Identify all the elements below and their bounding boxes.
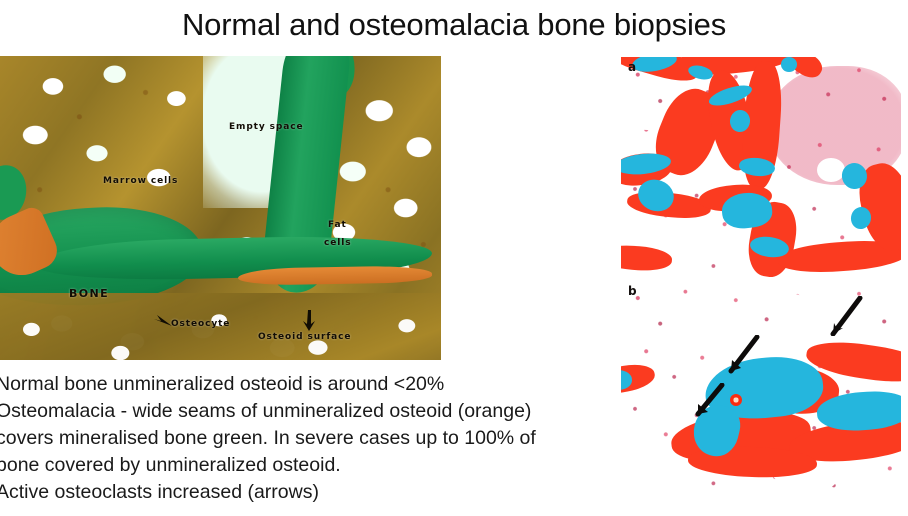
- label-empty-space: Empty space: [229, 122, 303, 132]
- fat-vacuole: [629, 302, 654, 323]
- fat-vacuole: [867, 294, 892, 315]
- label-cells: cells: [324, 238, 351, 248]
- osteoid-surface-arrow-icon: [302, 310, 316, 332]
- body-line-2: Osteomalacia - wide seams of unmineraliz…: [0, 398, 636, 425]
- osteoclast-arrow-icon-2: [721, 335, 761, 375]
- fat-vacuole: [683, 246, 705, 266]
- osteoclast-arrow-icon-1: [819, 296, 863, 336]
- osteoclast-arrow-icon-3: [687, 383, 727, 419]
- fat-vacuole: [632, 105, 663, 129]
- panel-b-osteoclasts: b: [621, 281, 901, 494]
- label-fat: Fat: [328, 220, 347, 230]
- panel-a-letter: a: [628, 60, 636, 74]
- panel-b-letter: b: [628, 284, 637, 298]
- body-line-5: Active osteoclasts increased (arrows): [0, 479, 636, 506]
- body-line-1: Normal bone unmineralized osteoid is aro…: [0, 371, 636, 398]
- page-title: Normal and osteomalacia bone biopsies: [0, 4, 908, 46]
- label-osteocyte: Osteocyte: [171, 319, 230, 329]
- panel-a-osteomalacia: a: [621, 57, 901, 277]
- fat-vacuole: [663, 324, 685, 343]
- label-osteoid-surface: Osteoid surface: [258, 332, 351, 342]
- slide-body-text: Normal bone unmineralized osteoid is aro…: [0, 371, 636, 506]
- label-bone: BONE: [69, 287, 109, 300]
- body-line-3: covers mineralised bone green. In severe…: [0, 425, 636, 452]
- fat-vacuole: [781, 294, 806, 315]
- body-line-4: bone covered by unmineralized osteoid.: [0, 452, 636, 479]
- fat-vacuole: [677, 358, 697, 375]
- label-marrow-cells: Marrow cells: [103, 176, 178, 186]
- fat-vacuole: [632, 451, 663, 477]
- slide-canvas: Normal and osteomalacia bone biopsies Em…: [0, 0, 908, 516]
- fat-vacuole: [814, 468, 836, 487]
- osteoclast-marker: [730, 394, 742, 406]
- normal-bone-biopsy-micrograph: Empty space Marrow cells Fat cells BONE …: [0, 56, 441, 360]
